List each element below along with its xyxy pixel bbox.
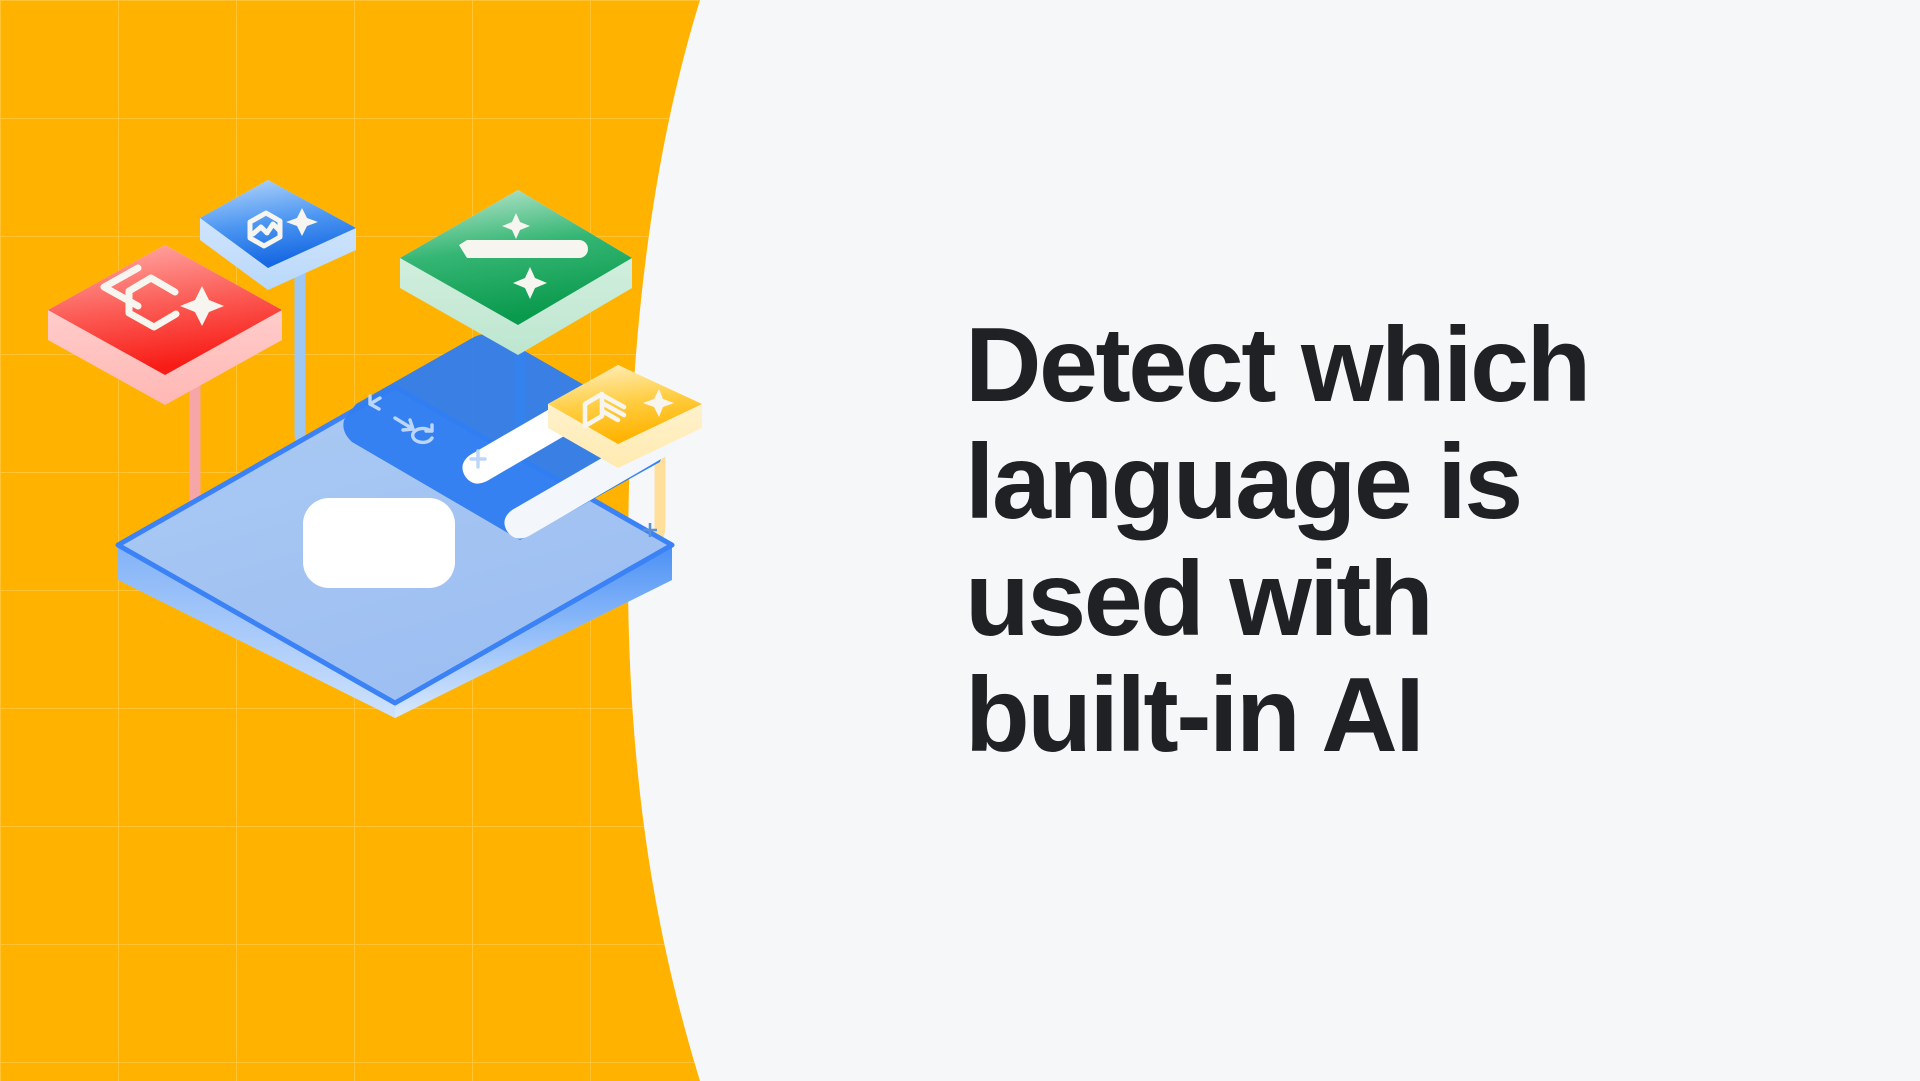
tile-rewrite	[400, 190, 632, 355]
headline-line-2: language is	[965, 424, 1765, 541]
headline-block: Detect which language is used with built…	[965, 0, 1825, 1081]
input-card	[303, 498, 455, 588]
page-title: Detect which language is used with built…	[965, 307, 1765, 773]
tile-image-describe	[200, 180, 356, 290]
headline-line-1: Detect which	[965, 307, 1765, 424]
hero-banner: Detect which language is used with built…	[0, 0, 1920, 1081]
headline-line-3: used with	[965, 541, 1765, 658]
isometric-illustration	[0, 0, 880, 1081]
headline-line-4: built-in AI	[965, 657, 1765, 774]
